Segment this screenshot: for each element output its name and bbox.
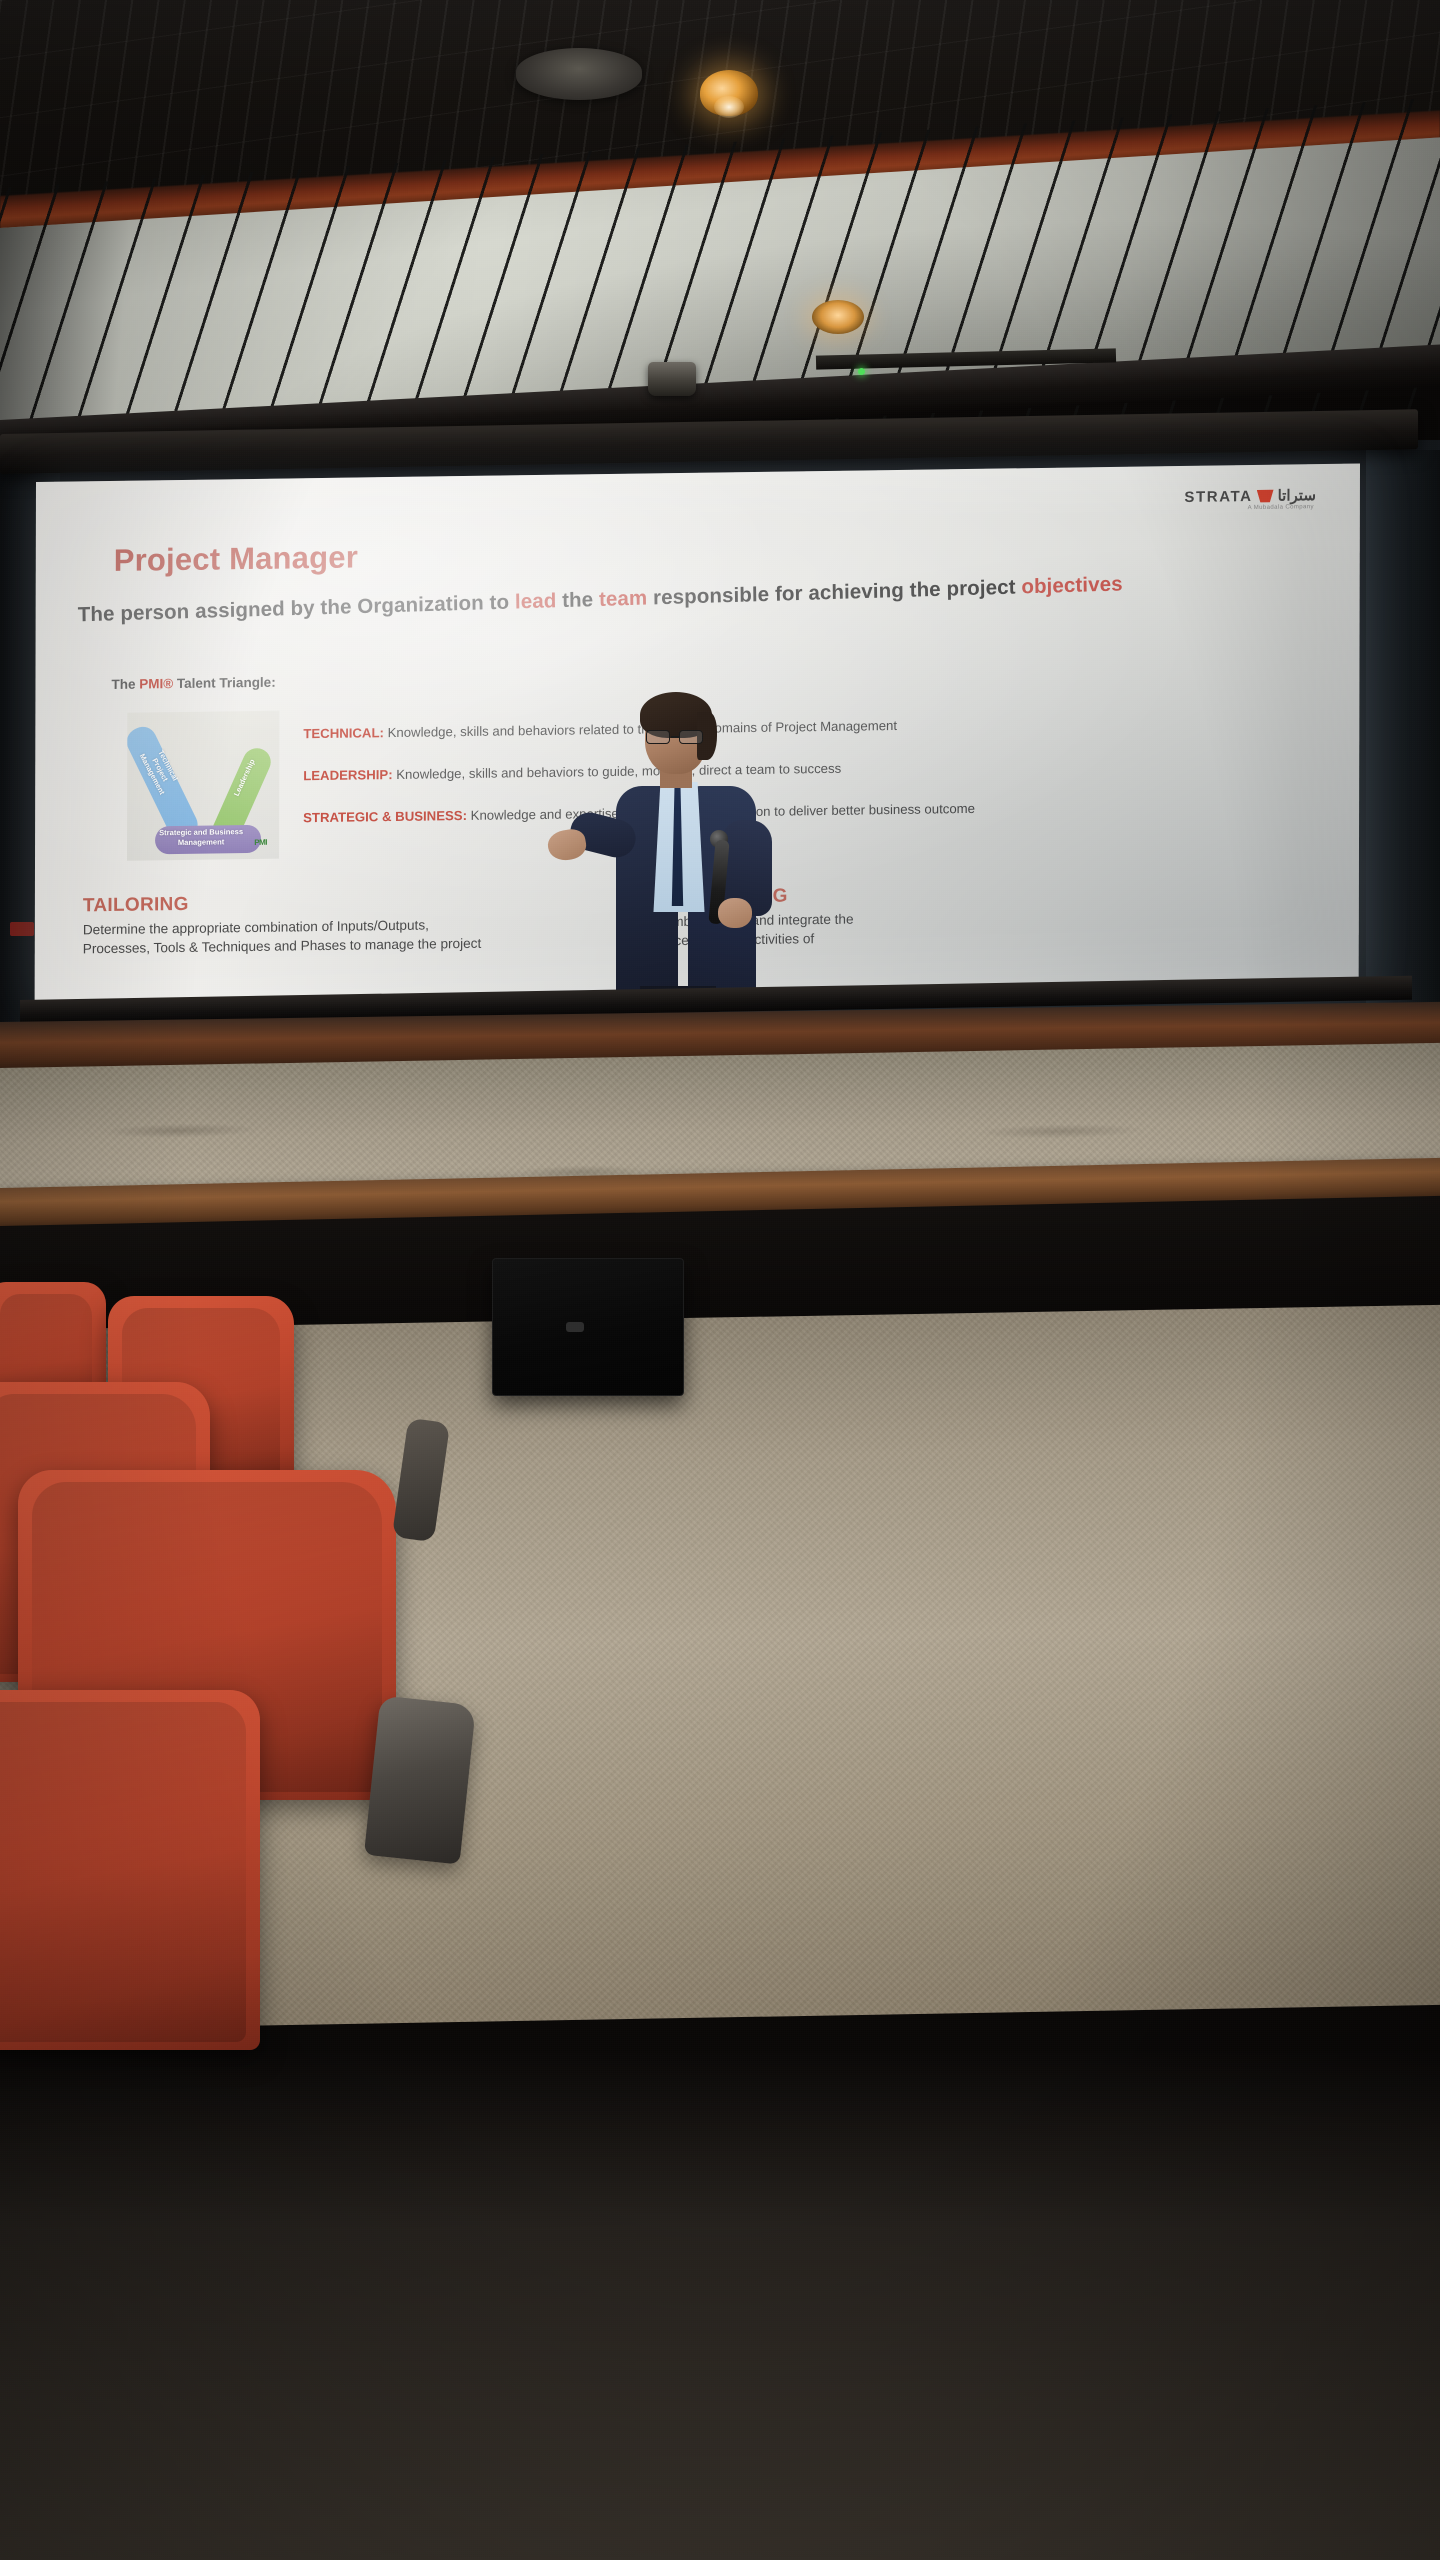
pmi-caption-pre: The [111,677,139,692]
floor-speaker [492,1258,684,1396]
bullet-term-strategic: STRATEGIC & BUSINESS: [303,808,467,825]
pmi-caption-post: Talent Triangle: [173,675,276,691]
speaker-grille-icon [566,1322,584,1332]
glasses-bridge [671,736,679,738]
bullet-term-technical: TECHNICAL: [303,725,384,741]
slide-title: Project Manager [114,540,358,579]
subtitle-highlight-objectives: objectives [1021,572,1123,598]
tailoring-section: TAILORING Determine the appropriate comb… [83,888,603,958]
ceiling-projector [648,362,696,396]
ceiling-lamp-glow [714,96,744,118]
tailoring-heading: TAILORING [83,888,603,917]
bullet-term-leadership: LEADERSHIP: [303,767,392,783]
subtitle-part-2: the [556,588,599,612]
strata-logo: STRATA ستراتا [1184,486,1316,506]
auditorium-photo: STRATA ستراتا A Mubadala Company Project… [0,0,1440,2560]
seat-cushion [0,1702,246,2042]
pmi-badge-icon: PMI [254,838,267,847]
ceiling-spotlight [812,300,864,334]
strata-mark-icon [1257,489,1274,502]
tailoring-body: Determine the appropriate combination of… [83,913,603,958]
strata-arabic-wordmark: ستراتا [1278,486,1316,505]
pmi-triangle-caption: The PMI® Talent Triangle: [111,675,275,692]
subtitle-highlight-team: team [599,587,648,611]
seat-armrest [364,1695,476,1864]
status-led-icon [858,368,865,375]
ceiling-vent [516,48,642,100]
foreground-shadow [0,2050,1440,2560]
subtitle-part-3: responsible for achieving the project [647,575,1021,609]
theater-seat [0,1690,260,2050]
pmi-talent-triangle-image: Technical Project Management Leadership … [127,711,279,861]
subtitle-part-1: The person assigned by the Organization … [78,590,515,626]
subtitle-highlight-lead: lead [515,589,557,613]
triangle-graphic: Technical Project Management Leadership … [135,715,271,857]
glasses-lens-right [679,730,703,744]
wall-panel-right [1366,450,1440,1060]
glasses-icon [646,730,706,744]
pmi-brand: PMI® [139,676,173,691]
exit-sign [10,922,34,936]
triangle-label-strategic: Strategic and Business Management [149,827,253,848]
strata-tagline: A Mubadala Company [1248,504,1314,511]
glasses-lens-left [646,730,670,744]
strata-wordmark: STRATA [1184,488,1252,506]
presenter-hand-right [718,898,752,928]
